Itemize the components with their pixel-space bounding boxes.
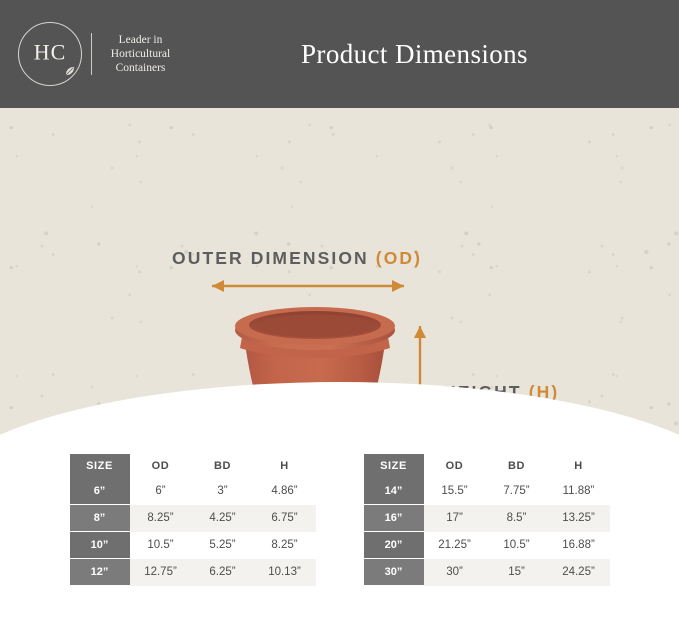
cell-h: 11.88” <box>548 478 610 505</box>
table-row: 30” 30” 15” 24.25” <box>364 559 610 586</box>
cell-bd: 15” <box>486 559 548 586</box>
dimension-table-small: SIZE OD BD H 6” 6” 3” 4.86” 8” 8.25” 4.2… <box>70 454 316 586</box>
table-row: 10” 10.5” 5.25” 8.25” <box>70 532 316 559</box>
cell-h: 13.25” <box>548 505 610 532</box>
cell-size: 16” <box>364 505 424 532</box>
cell-bd: 3” <box>192 478 254 505</box>
column-header-od: OD <box>424 454 486 478</box>
table-row: 14” 15.5” 7.75” 11.88” <box>364 478 610 505</box>
table-header-row: SIZE OD BD H <box>364 454 610 478</box>
table-row: 6” 6” 3” 4.86” <box>70 478 316 505</box>
cell-size: 6” <box>70 478 130 505</box>
cell-od: 21.25” <box>424 532 486 559</box>
cell-size: 10” <box>70 532 130 559</box>
cell-h: 6.75” <box>254 505 316 532</box>
cell-od: 30” <box>424 559 486 586</box>
cell-od: 6” <box>130 478 192 505</box>
cell-size: 30” <box>364 559 424 586</box>
cell-size: 14” <box>364 478 424 505</box>
cell-bd: 10.5” <box>486 532 548 559</box>
cell-od: 17” <box>424 505 486 532</box>
table-row: 16” 17” 8.5” 13.25” <box>364 505 610 532</box>
table-row: 12” 12.75” 6.25” 10.13” <box>70 559 316 586</box>
cell-od: 12.75” <box>130 559 192 586</box>
cell-h: 16.88” <box>548 532 610 559</box>
cell-bd: 6.25” <box>192 559 254 586</box>
cell-od: 8.25” <box>130 505 192 532</box>
cell-bd: 7.75” <box>486 478 548 505</box>
dimension-table-large: SIZE OD BD H 14” 15.5” 7.75” 11.88” 16” … <box>364 454 610 586</box>
outer-dimension-arrow-icon <box>200 278 416 294</box>
cell-bd: 8.5” <box>486 505 548 532</box>
outer-dimension-abbr: (OD) <box>376 248 422 268</box>
cell-size: 8” <box>70 505 130 532</box>
cell-od: 15.5” <box>424 478 486 505</box>
outer-dimension-text: OUTER DIMENSION <box>172 248 369 268</box>
cell-bd: 5.25” <box>192 532 254 559</box>
table-row: 20” 21.25” 10.5” 16.88” <box>364 532 610 559</box>
cell-size: 20” <box>364 532 424 559</box>
cell-h: 8.25” <box>254 532 316 559</box>
page-header: HC Leader in Horticultural Containers Pr… <box>0 0 679 108</box>
table-header-row: SIZE OD BD H <box>70 454 316 478</box>
column-header-size: SIZE <box>70 454 130 478</box>
cell-h: 10.13” <box>254 559 316 586</box>
column-header-bd: BD <box>192 454 254 478</box>
column-header-bd: BD <box>486 454 548 478</box>
cell-bd: 4.25” <box>192 505 254 532</box>
page-title: Product Dimensions <box>0 0 679 108</box>
dimension-tables: SIZE OD BD H 6” 6” 3” 4.86” 8” 8.25” 4.2… <box>0 440 679 586</box>
column-header-size: SIZE <box>364 454 424 478</box>
column-header-h: H <box>254 454 316 478</box>
table-row: 8” 8.25” 4.25” 6.75” <box>70 505 316 532</box>
dimension-diagram: OUTER DIMENSION (OD) <box>0 108 679 440</box>
cell-h: 4.86” <box>254 478 316 505</box>
outer-dimension-label: OUTER DIMENSION (OD) <box>172 248 422 269</box>
column-header-h: H <box>548 454 610 478</box>
cell-h: 24.25” <box>548 559 610 586</box>
cell-size: 12” <box>70 559 130 586</box>
cell-od: 10.5” <box>130 532 192 559</box>
column-header-od: OD <box>130 454 192 478</box>
